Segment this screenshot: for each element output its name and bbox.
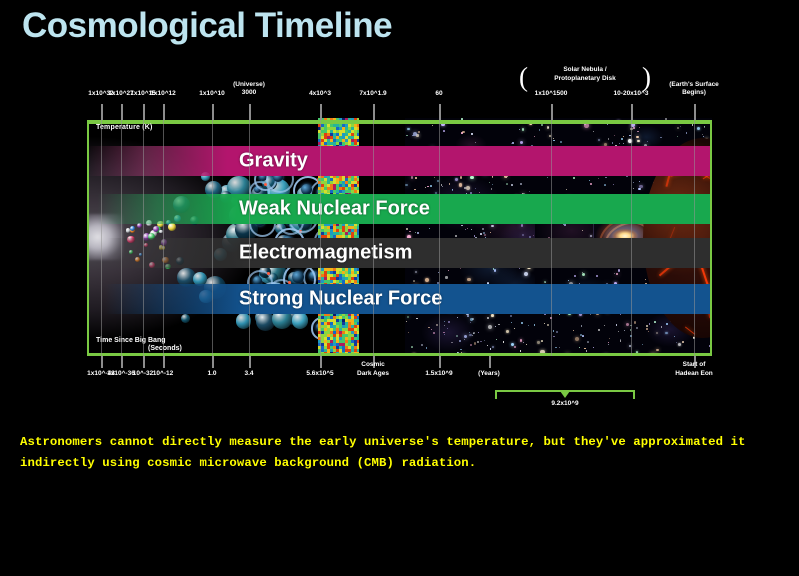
- star-dot: [521, 322, 523, 324]
- chart-frame-right: [710, 120, 712, 356]
- star-dot: [412, 135, 414, 137]
- star-dot: [510, 315, 512, 317]
- chart-frame-left: [87, 120, 89, 356]
- star-dot: [608, 344, 609, 345]
- star-dot: [480, 341, 482, 343]
- bottom-axis-label: 1.5x10^9: [425, 370, 452, 379]
- star-dot: [411, 176, 413, 178]
- star-dot: [417, 232, 419, 234]
- axis-label-line: Cosmic: [357, 361, 389, 370]
- hadron-sphere: [292, 312, 309, 329]
- star-dot: [429, 228, 430, 229]
- axis-tick: [551, 104, 553, 120]
- star-dot: [443, 130, 445, 132]
- star-dot: [416, 318, 418, 320]
- star-dot: [677, 127, 679, 129]
- solar-nebula-line2: Protoplanetary Disk: [519, 75, 651, 84]
- star-dot: [579, 347, 580, 348]
- caption-text: Astronomers cannot directly measure the …: [20, 432, 780, 474]
- star-dot: [623, 136, 624, 137]
- infographic-canvas: Cosmological Timeline Gravity Weak Nucle…: [0, 0, 799, 576]
- star-dot: [623, 143, 624, 144]
- star-dot: [598, 329, 600, 331]
- star-dot: [413, 280, 415, 282]
- star-dot: [609, 338, 610, 339]
- axis-tick: [439, 104, 441, 120]
- axis-tick: [320, 104, 322, 120]
- star-dot: [626, 323, 629, 326]
- star-dot: [593, 131, 594, 132]
- axis-tick: [212, 356, 214, 368]
- axis-tick: [249, 104, 251, 120]
- star-dot: [586, 350, 587, 351]
- measure-cap-left: [495, 390, 497, 399]
- star-dot: [425, 187, 426, 188]
- axis-tick: [121, 356, 123, 368]
- axis-tick: [694, 104, 696, 120]
- star-dot: [407, 316, 409, 318]
- axis-label-line: (Earth's Surface: [669, 81, 719, 89]
- star-dot: [633, 182, 634, 183]
- star-dot: [697, 127, 700, 130]
- star-dot: [470, 344, 472, 346]
- axis-tick: [101, 120, 102, 356]
- star-dot: [418, 131, 420, 133]
- axis-tick: [631, 120, 632, 356]
- star-dot: [604, 325, 605, 326]
- top-axis-label: (Universe)3000: [233, 81, 265, 97]
- force-band-electromagnetism: Electromagnetism: [87, 238, 712, 268]
- bottom-axis-label: 10^-32: [133, 370, 153, 379]
- star-dot: [618, 269, 620, 271]
- lava-crack: [684, 326, 694, 334]
- measure-label: 9.2x10^9: [551, 400, 578, 407]
- star-dot: [520, 339, 522, 341]
- star-dot: [556, 331, 558, 333]
- particle-dot: [168, 223, 176, 231]
- star-dot: [520, 141, 523, 144]
- star-dot: [608, 138, 610, 140]
- bottom-axis-label: 5.6x10^5: [306, 370, 333, 379]
- axis-tick: [143, 356, 145, 368]
- axis-tick: [163, 356, 165, 368]
- star-dot: [616, 273, 618, 275]
- star-dot: [686, 132, 687, 133]
- star-dot: [598, 139, 600, 141]
- duration-measure-bracket: 9.2x10^9: [495, 390, 635, 406]
- star-dot: [605, 177, 606, 178]
- axis-tick: [439, 356, 441, 368]
- top-axis-label: 1x10^10: [199, 90, 225, 98]
- star-dot: [613, 184, 614, 185]
- top-axis-label: 60: [435, 90, 442, 98]
- axis-label-line: Hadean Eon: [675, 370, 713, 379]
- axis-tick: [163, 104, 165, 120]
- star-dot: [421, 344, 423, 346]
- star-dot: [645, 279, 646, 280]
- axis-tick: [121, 104, 123, 120]
- star-dot: [492, 346, 494, 348]
- axis-tick: [249, 120, 250, 356]
- chart-frame-top: [87, 120, 712, 124]
- star-dot: [506, 183, 508, 185]
- solar-nebula-line1: Solar Nebula /: [519, 66, 651, 75]
- star-dot: [434, 177, 435, 178]
- star-dot: [492, 176, 494, 178]
- star-dot: [620, 340, 622, 342]
- star-dot: [511, 184, 513, 186]
- axis-tick: [489, 356, 491, 368]
- force-band-strong-nuclear: Strong Nuclear Force: [87, 284, 712, 314]
- atom-nucleus: [292, 271, 304, 283]
- star-dot: [406, 228, 408, 230]
- page-title: Cosmological Timeline: [22, 6, 392, 46]
- bottom-axis-label: 3.4: [244, 370, 253, 379]
- star-dot: [432, 125, 433, 126]
- star-dot: [590, 183, 592, 185]
- star-dot: [587, 341, 589, 343]
- force-band-gravity: Gravity: [87, 146, 712, 176]
- axis-tick: [143, 120, 144, 356]
- star-dot: [593, 347, 594, 348]
- hadron-sphere: [181, 314, 190, 323]
- star-dot: [616, 324, 617, 325]
- axis-tick: [631, 104, 633, 120]
- star-dot: [414, 189, 415, 190]
- particle-dot: [153, 226, 159, 232]
- star-dot: [547, 324, 549, 326]
- star-dot: [566, 189, 567, 190]
- star-dot: [498, 324, 499, 325]
- star-dot: [512, 142, 514, 144]
- star-dot: [573, 177, 575, 179]
- axis-tick: [373, 104, 375, 120]
- star-dot: [425, 278, 429, 282]
- star-dot: [604, 184, 606, 186]
- star-dot: [495, 326, 496, 327]
- star-dot: [511, 343, 514, 346]
- star-dot: [503, 341, 504, 342]
- star-dot: [520, 350, 521, 351]
- star-dot: [506, 330, 509, 333]
- star-dot: [523, 342, 524, 343]
- star-dot: [642, 344, 643, 345]
- axis-tick: [551, 120, 552, 356]
- bottom-axis-label: 10^-12: [153, 370, 173, 379]
- star-dot: [634, 321, 636, 323]
- star-dot: [541, 124, 543, 126]
- star-dot: [553, 140, 554, 141]
- star-dot: [514, 328, 516, 330]
- force-band-weak-nuclear: Weak Nuclear Force: [87, 194, 712, 224]
- star-dot: [474, 342, 476, 344]
- electron-dot: [267, 272, 270, 275]
- axis-label-line: (Universe): [233, 81, 265, 89]
- star-dot: [560, 141, 562, 143]
- top-axis-label: 4x10^3: [309, 90, 331, 98]
- star-dot: [409, 231, 411, 233]
- star-dot: [478, 332, 479, 333]
- top-axis-label: (Earth's SurfaceBegins): [669, 81, 719, 97]
- force-band-strong-nuclear-label: Strong Nuclear Force: [239, 288, 442, 311]
- axis-tick: [439, 120, 440, 356]
- star-dot: [612, 142, 613, 143]
- star-dot: [477, 341, 479, 343]
- star-dot: [559, 347, 560, 348]
- star-dot: [426, 347, 428, 349]
- axis-tick: [212, 120, 213, 356]
- star-dot: [514, 346, 516, 348]
- star-dot: [407, 128, 409, 130]
- star-dot: [406, 135, 408, 137]
- star-dot: [445, 276, 447, 278]
- top-axis-label: 1x10^12: [150, 90, 176, 98]
- star-dot: [405, 184, 407, 186]
- star-dot: [507, 176, 508, 177]
- star-dot: [522, 128, 524, 130]
- star-dot: [490, 348, 492, 350]
- star-dot: [462, 131, 464, 133]
- star-dot: [519, 129, 520, 130]
- measure-arrow-icon: [560, 391, 570, 398]
- star-dot: [619, 143, 620, 144]
- star-dot: [408, 332, 409, 333]
- bottom-axis-label: 1x10^-36: [107, 370, 135, 379]
- star-dot: [633, 188, 634, 189]
- axis-tick: [694, 120, 695, 356]
- star-dot: [584, 348, 586, 350]
- axis-tick: [320, 356, 322, 368]
- star-dot: [582, 335, 584, 337]
- star-dot: [639, 181, 640, 182]
- star-dot: [529, 191, 530, 192]
- axis-tick: [101, 104, 103, 120]
- star-dot: [581, 325, 582, 326]
- axis-tick: [249, 356, 251, 368]
- star-dot: [618, 331, 619, 332]
- star-dot: [448, 270, 449, 271]
- star-dot: [547, 177, 549, 179]
- star-dot: [526, 344, 527, 345]
- axis-label-line: Start of: [675, 361, 713, 370]
- star-dot: [607, 124, 608, 125]
- axis-tick: [101, 356, 103, 368]
- star-dot: [528, 325, 529, 326]
- nebula-haze: [421, 313, 476, 351]
- star-dot: [677, 136, 678, 137]
- solar-nebula-bracket-text: Solar Nebula / Protoplanetary Disk: [519, 66, 651, 83]
- top-axis-label: 7x10^1.9: [359, 90, 386, 98]
- star-dot: [636, 327, 638, 329]
- star-dot: [539, 129, 540, 130]
- axis-tick: [212, 104, 214, 120]
- star-dot: [537, 341, 539, 343]
- star-dot: [484, 340, 485, 341]
- timeline-chart: Gravity Weak Nuclear Force Electromagnet…: [87, 118, 712, 356]
- star-dot: [575, 337, 579, 341]
- star-dot: [553, 330, 555, 332]
- star-dot: [406, 321, 408, 323]
- axis-tick: [373, 120, 374, 356]
- star-dot: [553, 336, 555, 338]
- time-axis-sublabel: (Seconds): [148, 345, 182, 352]
- axis-tick: [163, 120, 164, 356]
- star-dot: [411, 346, 413, 348]
- star-dot: [680, 126, 682, 128]
- axis-label-line: Begins): [669, 89, 719, 97]
- axis-tick: [320, 120, 321, 356]
- star-dot: [488, 325, 492, 329]
- star-dot: [638, 188, 640, 190]
- star-dot: [541, 340, 543, 342]
- axis-label-line: Dark Ages: [357, 370, 389, 379]
- star-dot: [598, 178, 599, 179]
- star-dot: [614, 135, 616, 137]
- star-dot: [703, 136, 704, 137]
- star-dot: [573, 330, 574, 331]
- star-dot: [496, 339, 497, 340]
- star-dot: [704, 127, 705, 128]
- bottom-axis-label: CosmicDark Ages: [357, 361, 389, 378]
- force-band-weak-nuclear-label: Weak Nuclear Force: [239, 198, 430, 221]
- star-dot: [544, 323, 545, 324]
- bottom-axis-label: (Years): [478, 370, 500, 379]
- time-axis-label: Time Since Big Bang: [96, 336, 166, 345]
- axis-tick: [143, 104, 145, 120]
- star-dot: [487, 345, 488, 346]
- bottom-axis-label: Start ofHadean Eon: [675, 361, 713, 378]
- star-dot: [487, 317, 489, 319]
- axis-tick: [121, 120, 122, 356]
- star-dot: [692, 124, 694, 126]
- star-dot: [589, 180, 590, 181]
- solar-nebula-bracket: ( ) Solar Nebula / Protoplanetary Disk: [519, 66, 651, 96]
- star-dot: [656, 349, 658, 351]
- atom-nucleus: [301, 184, 312, 195]
- temperature-axis-label: Temperature (K): [96, 124, 153, 131]
- star-dot: [555, 347, 556, 348]
- bottom-axis-label: 1.0: [207, 370, 216, 379]
- star-dot: [608, 342, 609, 343]
- force-band-electromagnetism-label: Electromagnetism: [239, 242, 412, 265]
- star-dot: [520, 183, 522, 185]
- star-dot: [553, 138, 554, 139]
- axis-label-line: 3000: [233, 89, 265, 97]
- star-dot: [491, 314, 494, 317]
- star-dot: [511, 322, 512, 323]
- star-dot: [415, 271, 417, 273]
- star-dot: [621, 138, 623, 140]
- star-dot: [545, 282, 546, 283]
- measure-cap-right: [633, 390, 635, 399]
- star-dot: [624, 330, 625, 331]
- chart-frame-bottom: [87, 353, 712, 356]
- star-dot: [467, 315, 469, 317]
- star-dot: [415, 177, 417, 179]
